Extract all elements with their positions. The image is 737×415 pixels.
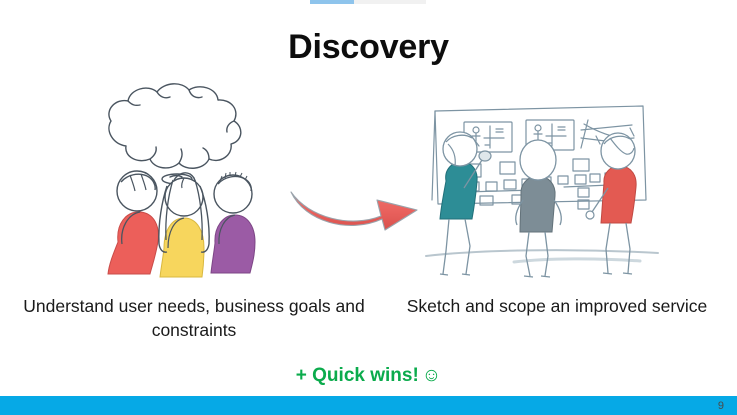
caption-right: Sketch and scope an improved service — [392, 294, 722, 318]
footer-bar — [0, 396, 737, 415]
curved-right-arrow-icon — [285, 176, 425, 234]
caption-left: Understand user needs, business goals an… — [12, 294, 376, 342]
slide: Discovery — [0, 0, 737, 415]
smiley-face-icon: ☺ — [422, 365, 441, 386]
quick-wins-note: + Quick wins!☺ — [0, 364, 737, 388]
progress-bar-track — [310, 0, 426, 4]
page-title: Discovery — [0, 27, 737, 67]
progress-bar-fill — [310, 0, 354, 4]
illustration-thought-cloud-with-three-people — [78, 78, 288, 283]
quick-wins-label: + Quick wins! — [296, 365, 419, 386]
page-number: 9 — [718, 399, 724, 413]
illustration-whiteboard-workshop-three-people — [418, 88, 668, 280]
